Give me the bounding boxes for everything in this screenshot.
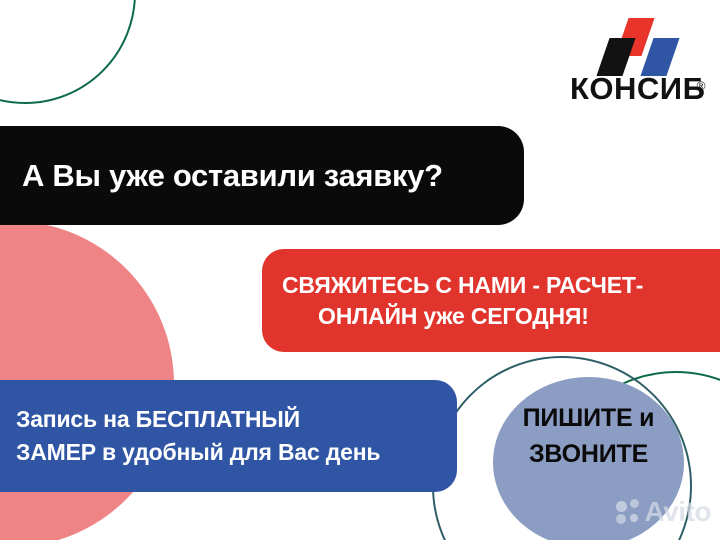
brand-logo: КОНСИБ® <box>570 18 706 106</box>
contact-band: СВЯЖИТЕСЬ С НАМИ - РАСЧЕТ- ОНЛАЙН уже СЕ… <box>262 249 720 352</box>
avito-watermark-label: Avito <box>645 496 711 528</box>
question-band-text: А Вы уже оставили заявку? <box>22 158 500 194</box>
callout-line-1: ПИШИТЕ и <box>493 400 684 436</box>
registered-trademark-icon: ® <box>697 70 706 103</box>
contact-band-line-2: ОНЛАЙН уже СЕГОДНЯ! <box>282 301 589 332</box>
avito-dots-icon <box>616 499 642 525</box>
green-ring-top-left-decoration <box>0 0 136 104</box>
callout-text: ПИШИТЕ и ЗВОНИТЕ <box>493 400 684 472</box>
measure-band: Запись на БЕСПЛАТНЫЙ ЗАМЕР в удобный для… <box>0 380 457 492</box>
contact-band-line-1: СВЯЖИТЕСЬ С НАМИ - РАСЧЕТ- <box>282 270 643 301</box>
logo-mark-icon <box>570 18 706 72</box>
callout-line-2: ЗВОНИТЕ <box>493 436 684 472</box>
promo-banner: КОНСИБ® А Вы уже оставили заявку? СВЯЖИТ… <box>0 0 720 540</box>
question-band: А Вы уже оставили заявку? <box>0 126 524 225</box>
avito-watermark: Avito <box>616 496 711 528</box>
measure-band-line-1: Запись на БЕСПЛАТНЫЙ <box>16 403 439 436</box>
measure-band-line-2: ЗАМЕР в удобный для Вас день <box>16 436 439 469</box>
brand-name: КОНСИБ® <box>570 72 706 105</box>
